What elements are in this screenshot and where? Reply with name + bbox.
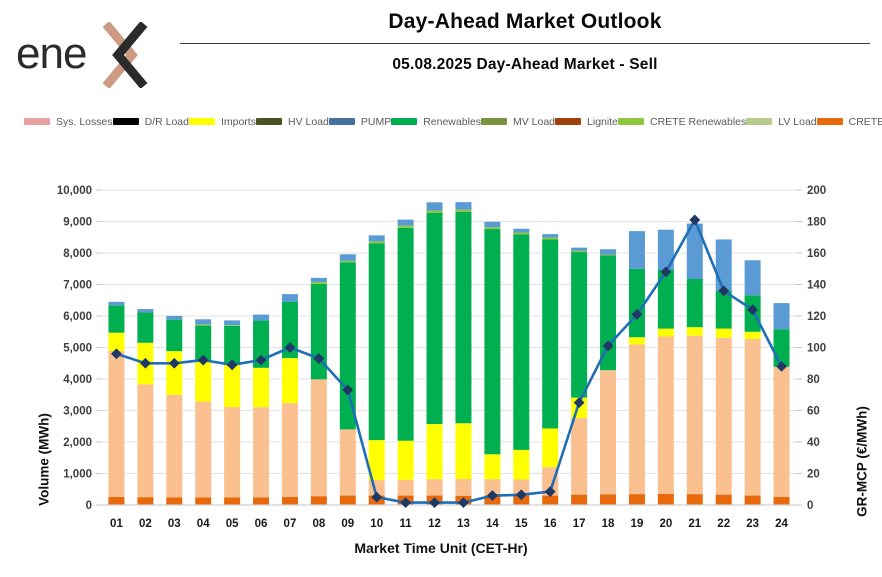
legend-item-crete-conventional[interactable]: CRETE Conventional xyxy=(817,112,882,131)
y2-axis-tick-label: 60 xyxy=(807,406,820,418)
x-axis-tick-label: 05 xyxy=(226,518,239,530)
bar-segment xyxy=(195,402,211,498)
legend-item-label: CRETE Conventional xyxy=(849,116,882,128)
x-axis-tick-label: 14 xyxy=(486,518,499,530)
legend-item-label: Lignite xyxy=(587,116,618,128)
y-axis-tick-label: 2,000 xyxy=(63,437,92,449)
bar-segment xyxy=(195,319,211,324)
bar-segment xyxy=(455,212,471,423)
legend-item-d-r-load[interactable]: D/R Load xyxy=(113,112,189,131)
legend-item-sys-losses[interactable]: Sys. Losses xyxy=(24,112,113,131)
bar-segment xyxy=(542,234,558,237)
legend-item-label: LV Load xyxy=(778,116,816,128)
chart-page: ene Day-Ahead Market Outlook 05.08.2025 … xyxy=(0,0,882,577)
page-title: Day-Ahead Market Outlook xyxy=(180,4,870,34)
bar-segment xyxy=(484,222,500,227)
x-axis-tick-label: 20 xyxy=(659,518,672,530)
legend-swatch-icon xyxy=(256,118,282,125)
legend-item-label: CRETE Renewables xyxy=(650,116,746,128)
x-axis-tick-label: 02 xyxy=(139,518,152,530)
legend-item-label: Renewables xyxy=(423,116,481,128)
bar-segment xyxy=(745,496,761,505)
bar-segment xyxy=(571,418,587,495)
legend-item-lv-load[interactable]: LV Load xyxy=(746,112,816,131)
bar-segment xyxy=(340,429,356,495)
x-axis-tick-label: 08 xyxy=(312,518,325,530)
bar-segment xyxy=(166,497,182,505)
title-block: Day-Ahead Market Outlook 05.08.2025 Day-… xyxy=(180,4,870,74)
x-axis-tick-label: 18 xyxy=(602,518,615,530)
bar-segment xyxy=(166,395,182,497)
bar-segment xyxy=(774,497,790,505)
bar-segment xyxy=(253,497,269,505)
legend-item-label: HV Load xyxy=(288,116,329,128)
bar-segment xyxy=(629,337,645,344)
bar-segment xyxy=(398,226,414,228)
legend-item-hv-load[interactable]: HV Load xyxy=(256,112,329,131)
bar-segment xyxy=(108,302,124,305)
bar-segment xyxy=(427,479,443,495)
bar-segment xyxy=(455,479,471,496)
bar-segment xyxy=(340,261,356,263)
bar-segment xyxy=(108,497,124,505)
x-axis-tick-label: 12 xyxy=(428,518,441,530)
bar-segment xyxy=(600,255,616,256)
legend-item-imports[interactable]: Imports xyxy=(189,112,256,131)
bar-segment xyxy=(687,327,703,336)
bar-segment xyxy=(571,495,587,505)
bar-segment xyxy=(137,313,153,343)
bar-segment xyxy=(311,278,327,282)
y-axis-tick-label: 0 xyxy=(86,500,92,512)
bar-segment xyxy=(427,213,443,424)
bar-segment xyxy=(311,282,327,284)
bar-segment xyxy=(542,239,558,428)
bar-segment xyxy=(513,450,529,480)
legend-swatch-icon xyxy=(329,118,355,125)
bar-segment xyxy=(716,338,732,495)
bar-segment xyxy=(716,239,732,290)
bar-segment xyxy=(427,210,443,212)
bar-segment xyxy=(166,320,182,352)
y2-axis-tick-label: 0 xyxy=(807,500,813,512)
bar-segment xyxy=(687,494,703,505)
y-axis-tick-label: 7,000 xyxy=(63,280,92,292)
y2-axis-tick-label: 200 xyxy=(807,185,826,197)
legend-swatch-icon xyxy=(618,118,644,125)
bar-segment xyxy=(195,324,211,325)
y-axis-tick-label: 4,000 xyxy=(63,374,92,386)
x-axis-tick-label: 17 xyxy=(573,518,586,530)
y2-axis-tick-label: 140 xyxy=(807,280,826,292)
x-axis-tick-label: 21 xyxy=(688,518,701,530)
bar-segment xyxy=(369,241,385,243)
bar-segment xyxy=(195,360,211,402)
x-axis-tick-label: 19 xyxy=(631,518,644,530)
bar-segment xyxy=(224,407,240,497)
bar-segment xyxy=(427,202,443,210)
legend-item-label: D/R Load xyxy=(145,116,189,128)
x-axis-tick-label: 06 xyxy=(255,518,268,530)
x-axis-tick-label: 16 xyxy=(544,518,557,530)
bar-segment xyxy=(774,367,790,497)
bar-segment xyxy=(369,243,385,440)
y-axis-tick-label: 9,000 xyxy=(63,217,92,229)
x-axis-tick-label: 15 xyxy=(515,518,528,530)
bar-segment xyxy=(745,332,761,339)
legend-item-label: PUMP xyxy=(361,116,391,128)
x-axis-tick-label: 13 xyxy=(457,518,470,530)
x-axis-tick-label: 01 xyxy=(110,518,123,530)
bar-segment xyxy=(716,329,732,338)
bar-segment xyxy=(137,497,153,505)
enex-logo: ene xyxy=(14,22,174,88)
legend-item-label: MV Load xyxy=(513,116,555,128)
bar-segment xyxy=(398,480,414,496)
legend-swatch-icon xyxy=(746,118,772,125)
gr-mcp-line xyxy=(117,220,782,503)
bar-segment xyxy=(253,407,269,497)
bar-segment xyxy=(108,351,124,497)
x-axis-tick-label: 22 xyxy=(717,518,730,530)
bar-segment xyxy=(369,235,385,241)
bar-segment xyxy=(484,229,500,454)
bar-segment xyxy=(224,326,240,365)
x-axis-tick-label: 23 xyxy=(746,518,759,530)
bar-segment xyxy=(195,497,211,505)
bar-segment xyxy=(253,315,269,321)
legend-swatch-icon xyxy=(113,118,139,125)
bar-segment xyxy=(658,329,674,337)
bar-segment xyxy=(108,333,124,351)
bar-segment xyxy=(282,358,298,403)
y2-axis-tick-label: 20 xyxy=(807,469,820,481)
legend-item-crete-renewables[interactable]: CRETE Renewables xyxy=(618,112,746,131)
x-axis-tick-label: 10 xyxy=(370,518,383,530)
bar-segment xyxy=(427,424,443,479)
bar-segment xyxy=(137,309,153,312)
legend-item-label: Imports xyxy=(221,116,256,128)
y-axis-tick-label: 8,000 xyxy=(63,248,92,260)
bar-segment xyxy=(282,403,298,497)
legend-swatch-icon xyxy=(189,118,215,125)
bar-segment xyxy=(571,248,587,251)
bar-segment xyxy=(513,234,529,449)
y2-axis-tick-label: 160 xyxy=(807,248,826,260)
y-axis-tick-label: 6,000 xyxy=(63,311,92,323)
bar-segment xyxy=(774,303,790,329)
legend-swatch-icon xyxy=(481,118,507,125)
x-axis-tick-label: 04 xyxy=(197,518,210,530)
x-axis-tick-label: 03 xyxy=(168,518,181,530)
legend-item-lignite[interactable]: Lignite xyxy=(555,112,618,131)
x-axis-title: Market Time Unit (CET-Hr) xyxy=(0,540,882,556)
y-axis-tick-label: 1,000 xyxy=(63,469,92,481)
bar-segment xyxy=(484,227,500,229)
bar-segment xyxy=(629,345,645,495)
bar-segment xyxy=(600,494,616,505)
page-header: ene Day-Ahead Market Outlook 05.08.2025 … xyxy=(0,0,882,104)
bar-segment xyxy=(571,251,587,252)
bar-segment xyxy=(455,202,471,210)
svg-text:ene: ene xyxy=(16,29,86,78)
y2-axis-tick-label: 120 xyxy=(807,311,826,323)
legend-swatch-icon xyxy=(391,118,417,125)
bar-segment xyxy=(571,252,587,398)
bar-segment xyxy=(166,316,182,320)
legend-item-pump[interactable]: PUMP xyxy=(329,112,391,131)
bar-segment xyxy=(716,291,732,329)
bar-segment xyxy=(542,428,558,467)
bar-segment xyxy=(629,269,645,337)
bar-segment xyxy=(600,249,616,254)
bar-segment xyxy=(687,336,703,494)
bar-segment xyxy=(513,229,529,233)
bar-segment xyxy=(455,210,471,212)
bar-segment xyxy=(629,231,645,269)
legend-swatch-icon xyxy=(24,118,50,125)
y2-axis-tick-label: 100 xyxy=(807,343,826,355)
bar-segment xyxy=(687,279,703,327)
y-axis-tick-label: 5,000 xyxy=(63,343,92,355)
bar-segment xyxy=(224,365,240,407)
legend-swatch-icon xyxy=(817,118,843,125)
bar-segment xyxy=(282,294,298,302)
bar-segment xyxy=(253,368,269,407)
bar-segment xyxy=(166,351,182,395)
y2-axis-tick-label: 80 xyxy=(807,374,820,386)
bar-segment xyxy=(600,370,616,494)
bar-segment xyxy=(513,233,529,235)
page-subtitle: 05.08.2025 Day-Ahead Market - Sell xyxy=(180,44,870,74)
bar-segment xyxy=(658,494,674,505)
y2-axis-tick-label: 40 xyxy=(807,437,820,449)
bar-segment xyxy=(484,454,500,479)
bar-segment xyxy=(455,423,471,479)
chart-plot-area: Volume (MWh) GR-MCP (€/MWh) Market Time … xyxy=(0,176,882,577)
bar-segment xyxy=(340,262,356,429)
legend-item-renewables[interactable]: Renewables xyxy=(391,112,481,131)
bar-segment xyxy=(311,496,327,505)
bar-segment xyxy=(224,325,240,326)
bar-segment xyxy=(745,339,761,496)
bar-segment xyxy=(600,256,616,371)
y-axis-tick-label: 3,000 xyxy=(63,406,92,418)
chart-legend: Sys. LossesD/R LoadImportsHV LoadPUMPRen… xyxy=(24,112,864,170)
bar-segment xyxy=(340,496,356,505)
x-axis-tick-label: 07 xyxy=(284,518,297,530)
bar-segment xyxy=(224,320,240,325)
legend-item-label: Sys. Losses xyxy=(56,116,113,128)
legend-item-mv-load[interactable]: MV Load xyxy=(481,112,555,131)
bar-segment xyxy=(398,228,414,441)
bar-segment xyxy=(340,254,356,261)
bar-segment xyxy=(398,220,414,226)
bar-segment xyxy=(658,336,674,494)
bar-segment xyxy=(629,494,645,505)
x-axis-tick-label: 09 xyxy=(341,518,354,530)
x-axis-tick-label: 24 xyxy=(775,518,788,530)
bar-segment xyxy=(542,238,558,240)
bar-segment xyxy=(311,379,327,496)
bar-segment xyxy=(398,441,414,480)
bar-segment xyxy=(745,260,761,295)
bar-segment xyxy=(108,305,124,332)
y2-axis-tick-label: 180 xyxy=(807,217,826,229)
y-axis-tick-label: 10,000 xyxy=(57,185,92,197)
x-axis-tick-label: 11 xyxy=(400,518,413,530)
bar-segment xyxy=(137,384,153,497)
bar-segment xyxy=(224,497,240,505)
bar-segment xyxy=(716,495,732,505)
stacked-bar-chart: 001,000202,000403,000604,000805,0001006,… xyxy=(0,176,882,536)
bar-segment xyxy=(282,497,298,505)
legend-swatch-icon xyxy=(555,118,581,125)
